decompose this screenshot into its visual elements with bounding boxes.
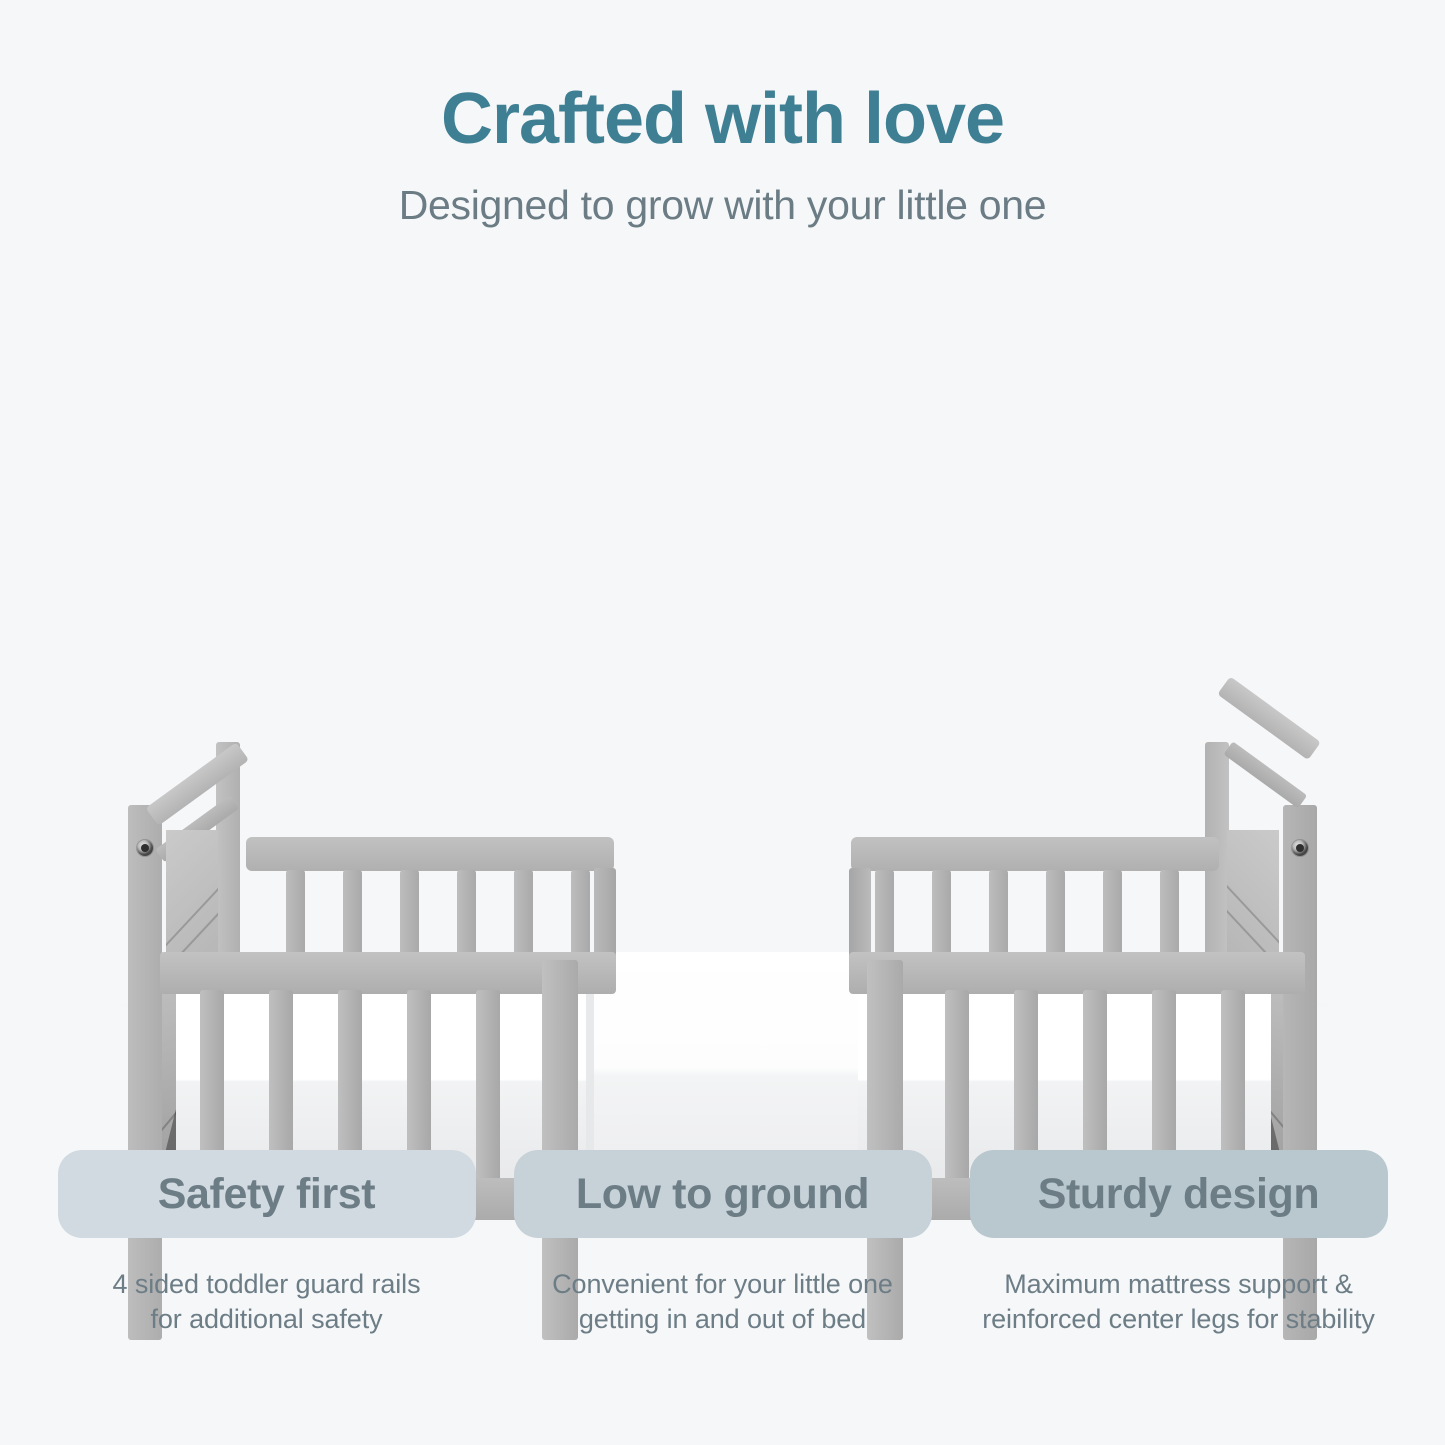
feature-pill-label: Safety first: [158, 1170, 375, 1219]
feature-card-safety-first: Safety first 4 sided toddler guard rails…: [58, 1150, 476, 1336]
toddler-bed-illustration: [0, 340, 1445, 1070]
right-guardrail-upper-slat: [875, 870, 894, 962]
right-guardrail-upper-slat: [932, 870, 951, 962]
left-guardrail-top-rail: [246, 837, 614, 871]
feature-desc-line-1: Convenient for your little one: [552, 1267, 893, 1302]
feature-pill-label: Sturdy design: [1038, 1170, 1320, 1219]
product-image-stage: [0, 340, 1445, 1070]
right-guardrail-upper-slat: [1046, 870, 1065, 962]
feature-pill-low-to-ground[interactable]: Low to ground: [514, 1150, 932, 1238]
right-headboard-brace-line-1: [1227, 841, 1279, 950]
left-headboard-brace-line-2: [172, 854, 218, 960]
right-headboard-brace-line-2: [1227, 853, 1274, 960]
feature-pill-label: Low to ground: [576, 1170, 869, 1219]
left-guardrail-upper-slat: [343, 870, 362, 962]
right-guardrail-top-rail: [851, 837, 1219, 871]
infographic-header: Crafted with love Designed to grow with …: [0, 0, 1445, 229]
feature-desc-line-2: for additional safety: [113, 1302, 421, 1337]
page-title: Crafted with love: [0, 82, 1445, 158]
right-headboard-angled-top-inner: [1223, 741, 1307, 808]
feature-desc-line-1: 4 sided toddler guard rails: [113, 1267, 421, 1302]
feature-desc-line-2: reinforced center legs for stability: [982, 1302, 1375, 1337]
left-guardrail-upper-end-stile: [594, 868, 616, 964]
right-outer-post-bolt-top: [1292, 840, 1308, 856]
right-guardrail-upper-slat: [1103, 870, 1122, 962]
left-guardrail-upper-slat: [514, 870, 533, 962]
feature-description-sturdy-design: Maximum mattress support & reinforced ce…: [982, 1267, 1375, 1336]
right-guardrail-upper-end-stile: [849, 868, 871, 964]
feature-badges-row: Safety first 4 sided toddler guard rails…: [0, 1150, 1445, 1336]
feature-pill-safety-first[interactable]: Safety first: [58, 1150, 476, 1238]
right-headboard-recess: [1227, 830, 1279, 960]
left-guardrail-upper-slat: [571, 870, 590, 962]
feature-description-low-to-ground: Convenient for your little one getting i…: [552, 1267, 893, 1336]
feature-description-safety-first: 4 sided toddler guard rails for addition…: [113, 1267, 421, 1336]
right-guardrail-upper-slat: [989, 870, 1008, 962]
feature-pill-sturdy-design[interactable]: Sturdy design: [970, 1150, 1388, 1238]
page-subtitle: Designed to grow with your little one: [0, 182, 1445, 229]
left-guardrail-upper-slat: [400, 870, 419, 962]
feature-card-sturdy-design: Sturdy design Maximum mattress support &…: [970, 1150, 1388, 1336]
feature-desc-line-2: getting in and out of bed: [552, 1302, 893, 1337]
left-headboard-brace-line-1: [166, 842, 218, 951]
left-outer-post-bolt-top: [137, 840, 153, 856]
right-guardrail-mid-rail: [849, 952, 1305, 994]
left-guardrail-upper-slat: [286, 870, 305, 962]
feature-card-low-to-ground: Low to ground Convenient for your little…: [514, 1150, 932, 1336]
right-guardrail-upper-slat: [1160, 870, 1179, 962]
feature-desc-line-1: Maximum mattress support &: [982, 1267, 1375, 1302]
left-headboard-recess: [166, 830, 218, 960]
left-guardrail-upper-slat: [457, 870, 476, 962]
